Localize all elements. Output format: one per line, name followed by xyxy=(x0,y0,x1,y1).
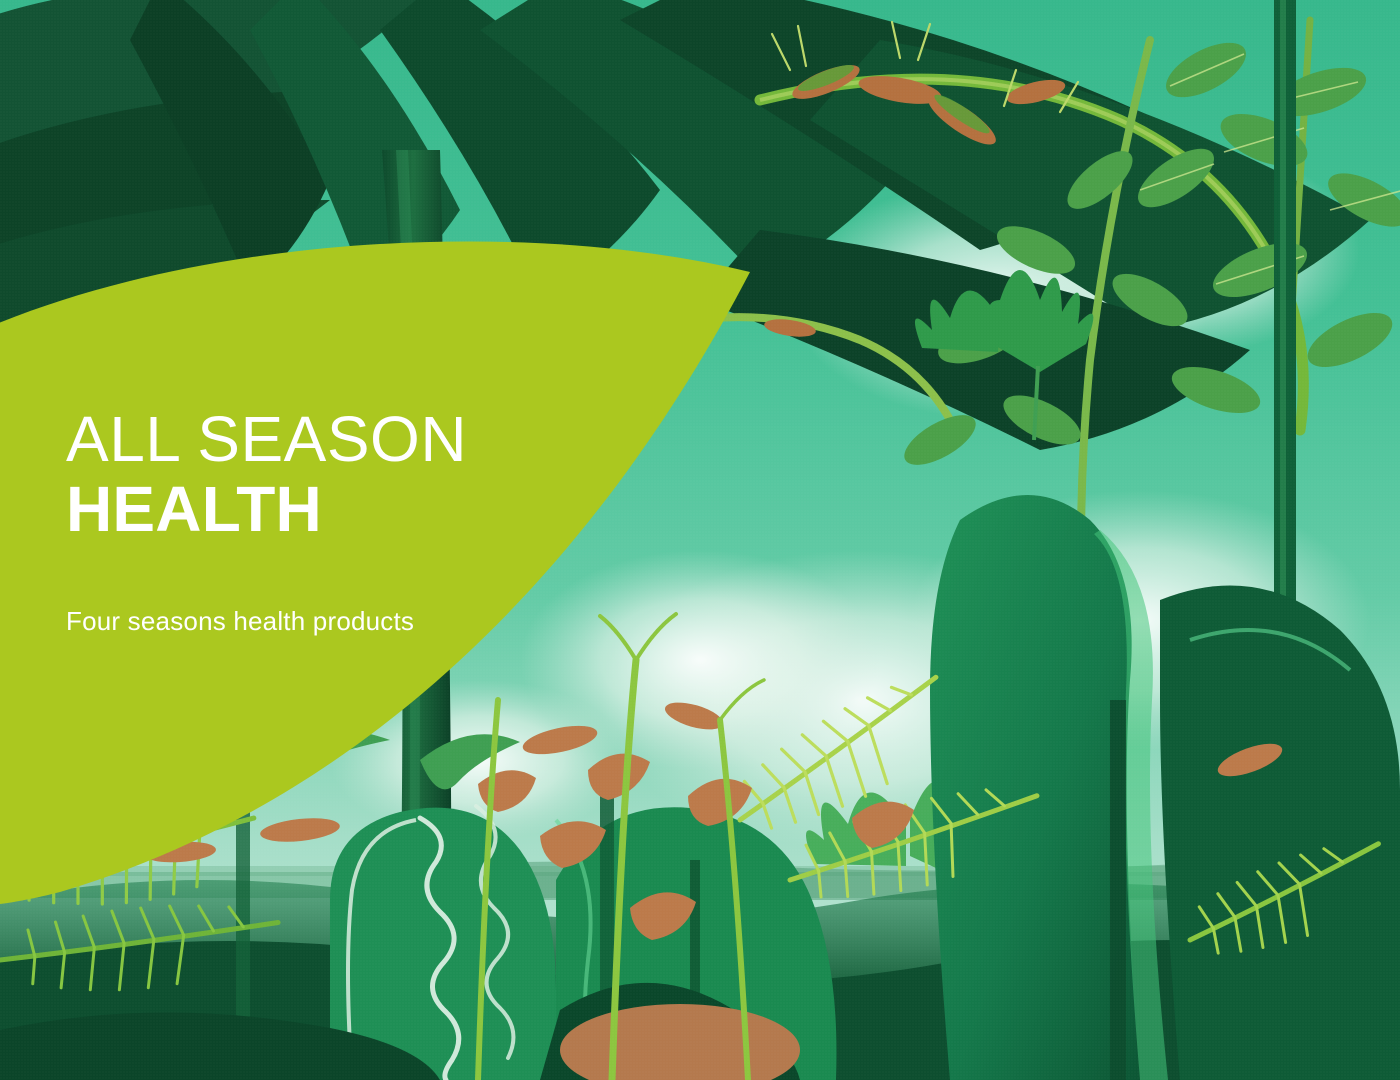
poster-canvas: ALL SEASON HEALTH Four seasons health pr… xyxy=(0,0,1400,1080)
headline-block: ALL SEASON HEALTH Four seasons health pr… xyxy=(66,404,686,636)
headline-line-1: ALL SEASON xyxy=(66,404,686,474)
subtitle-text: Four seasons health products xyxy=(66,606,686,636)
headline-line-2: HEALTH xyxy=(66,474,686,544)
